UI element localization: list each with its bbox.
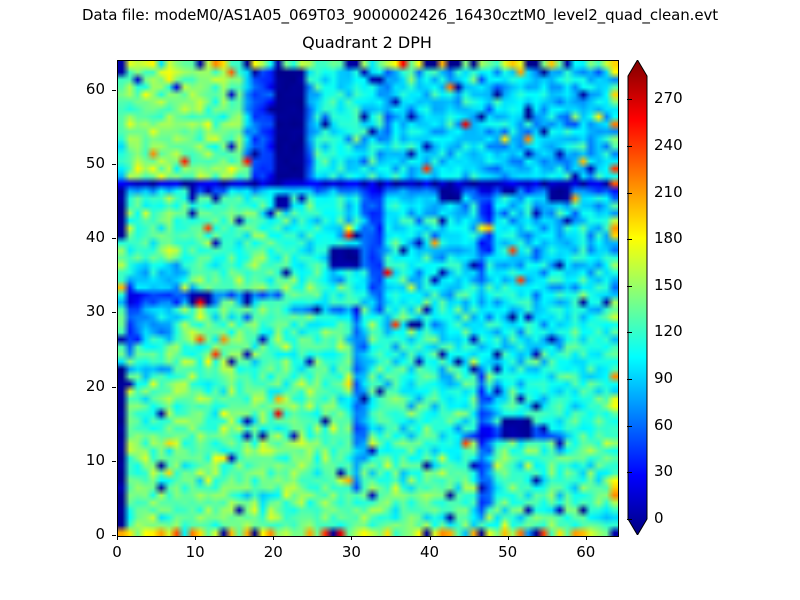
colorbar[interactable] (627, 60, 648, 535)
y-tick-mark (112, 387, 116, 388)
figure-canvas: Data file: modeM0/AS1A05_069T03_90000024… (0, 0, 800, 600)
x-tick-label: 50 (488, 543, 528, 561)
colorbar-tick-label: 0 (654, 509, 664, 527)
y-tick-mark (112, 164, 116, 165)
y-tick-label: 60 (65, 80, 105, 98)
y-tick-mark (112, 312, 116, 313)
heatmap-axes[interactable] (117, 60, 619, 537)
x-tick-mark (351, 536, 352, 540)
colorbar-tick-label: 120 (654, 322, 683, 340)
colorbar-tick-label: 180 (654, 229, 683, 247)
x-tick-label: 30 (331, 543, 371, 561)
colorbar-tick-mark (627, 472, 632, 473)
colorbar-tick-label: 240 (654, 136, 683, 154)
colorbar-tick-label: 90 (654, 369, 673, 387)
y-tick-mark (112, 90, 116, 91)
x-tick-mark (195, 536, 196, 540)
x-tick-mark (273, 536, 274, 540)
y-tick-mark (112, 461, 116, 462)
x-tick-mark (586, 536, 587, 540)
x-tick-mark (508, 536, 509, 540)
colorbar-tick-mark (627, 286, 632, 287)
colorbar-tick-mark (627, 332, 632, 333)
y-tick-label: 50 (65, 154, 105, 172)
y-tick-label: 20 (65, 377, 105, 395)
colorbar-tick-label: 60 (654, 416, 673, 434)
y-tick-label: 30 (65, 302, 105, 320)
y-tick-mark (112, 535, 116, 536)
colorbar-tick-label: 150 (654, 276, 683, 294)
x-tick-label: 60 (566, 543, 606, 561)
x-tick-label: 0 (97, 543, 137, 561)
colorbar-tick-mark (627, 99, 632, 100)
colorbar-tick-label: 270 (654, 89, 683, 107)
colorbar-tick-mark (627, 519, 632, 520)
x-tick-label: 20 (253, 543, 293, 561)
colorbar-gradient (627, 60, 648, 535)
colorbar-tick-mark (627, 193, 632, 194)
colorbar-tick-label: 30 (654, 462, 673, 480)
x-tick-mark (117, 536, 118, 540)
colorbar-tick-mark (627, 239, 632, 240)
x-tick-mark (430, 536, 431, 540)
x-tick-label: 40 (410, 543, 450, 561)
y-tick-label: 10 (65, 451, 105, 469)
plot-title: Quadrant 2 DPH (117, 33, 617, 52)
colorbar-tick-mark (627, 146, 632, 147)
data-file-label: Data file: modeM0/AS1A05_069T03_90000024… (0, 6, 800, 24)
y-tick-label: 0 (65, 525, 105, 543)
colorbar-tick-mark (627, 426, 632, 427)
x-tick-label: 10 (175, 543, 215, 561)
heatmap-image[interactable] (118, 61, 618, 536)
colorbar-tick-mark (627, 379, 632, 380)
y-tick-mark (112, 238, 116, 239)
y-tick-label: 40 (65, 228, 105, 246)
colorbar-tick-label: 210 (654, 183, 683, 201)
